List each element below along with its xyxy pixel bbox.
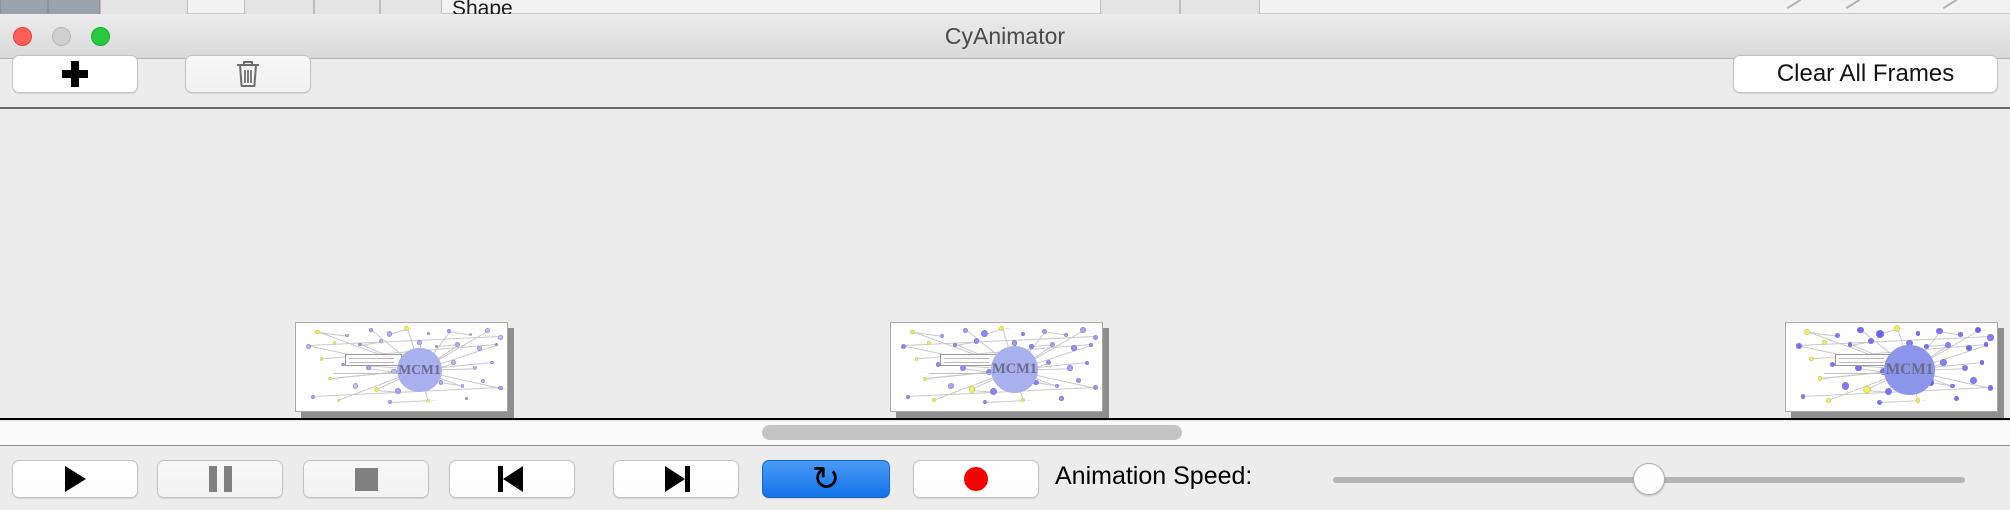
timeline-panel[interactable]: –––––––––––––––––––––––––––––––––MCM1–––… — [0, 109, 2010, 420]
graph-node — [481, 379, 485, 383]
record-icon — [964, 467, 988, 491]
graph-hub-node: MCM1 — [397, 348, 441, 392]
graph-node — [974, 338, 979, 343]
loop-button[interactable]: ↻ — [762, 460, 890, 498]
graph-node — [1958, 332, 1962, 336]
clear-all-frames-button[interactable]: Clear All Frames — [1733, 55, 1998, 93]
graph-node-label: ––– — [1026, 398, 1031, 402]
skip-back-button[interactable] — [449, 460, 575, 498]
graph-callout — [345, 354, 403, 367]
graph-edge — [449, 331, 470, 336]
graph-node — [1984, 342, 1989, 347]
graph-node — [1980, 360, 1985, 365]
graph-node — [1970, 377, 1977, 384]
graph-node — [306, 344, 311, 349]
graph-node — [498, 386, 502, 390]
graph-node — [963, 328, 968, 333]
background-arrow-icon — [1846, 0, 1861, 9]
graph-node — [1924, 344, 1929, 349]
background-fragment — [244, 0, 314, 14]
graph-node — [1046, 360, 1051, 365]
graph-node — [320, 357, 323, 360]
graph-node — [981, 330, 988, 337]
graph-node — [311, 395, 315, 399]
graph-node — [1835, 333, 1840, 338]
graph-node — [923, 377, 927, 381]
graph-node — [337, 399, 340, 402]
graph-node — [495, 343, 498, 346]
thumbnail-plate: –––––––––––––––––––––––––––––––––MCM1 — [1785, 322, 1998, 412]
graph-node — [451, 360, 456, 365]
callout-text-line — [349, 362, 393, 363]
graph-edge — [1036, 382, 1057, 387]
graph-node — [1021, 398, 1025, 402]
play-button[interactable] — [12, 460, 138, 498]
graph-node — [1064, 333, 1068, 337]
timeline-scrollbar-thumb[interactable] — [762, 425, 1182, 440]
graph-node — [1089, 343, 1093, 347]
graph-node — [447, 329, 451, 333]
graph-node-label: ––– — [1086, 328, 1091, 332]
graph-node-label: ––– — [410, 326, 415, 330]
graph-node — [1842, 382, 1850, 390]
graph-node — [1868, 338, 1874, 344]
graph-node — [910, 330, 915, 335]
graph-node — [353, 383, 358, 388]
background-fragment — [1100, 0, 1180, 14]
graph-node — [1093, 335, 1098, 340]
graph-node — [1093, 385, 1098, 390]
thumbnail-plate: –––––––––––––––––––––––––––––––––MCM1 — [295, 322, 508, 412]
graph-node — [477, 346, 482, 351]
graph-node — [1916, 398, 1921, 403]
loop-icon: ↻ — [812, 462, 841, 496]
graph-node — [388, 400, 392, 404]
network-graph: –––––––––––––––––––––––––––––––––MCM1 — [296, 323, 507, 411]
graph-callout — [940, 354, 998, 367]
background-fragment — [380, 0, 442, 14]
graph-node — [328, 377, 331, 380]
graph-node — [427, 332, 430, 335]
thumbnail-plate: –––––––––––––––––––––––––––––––––MCM1 — [890, 322, 1103, 412]
graph-node — [1801, 394, 1806, 399]
graph-node-label: ––– — [1056, 343, 1061, 347]
graph-node-label: ––– — [1900, 326, 1905, 330]
graph-node — [1012, 340, 1018, 346]
graph-node — [932, 398, 936, 402]
graph-node — [345, 334, 348, 337]
timeline-frame-thumbnail[interactable]: –––––––––––––––––––––––––––––––––MCM1 — [1785, 322, 1998, 412]
skip-forward-button[interactable] — [613, 460, 739, 498]
callout-text-line — [944, 358, 988, 359]
background-fragment — [0, 0, 48, 14]
background-arrow-icon — [1943, 0, 1958, 9]
graph-node — [1954, 396, 1959, 401]
graph-node — [1826, 398, 1830, 402]
graph-node — [366, 366, 370, 370]
graph-node — [1962, 365, 1968, 371]
graph-node — [1936, 328, 1943, 335]
graph-node — [1822, 340, 1827, 345]
window-title: CyAnimator — [0, 14, 2010, 59]
pause-icon — [209, 466, 232, 492]
background-fragment — [314, 0, 380, 14]
graph-node — [1940, 359, 1947, 366]
animation-speed-slider-thumb[interactable] — [1633, 463, 1665, 495]
graph-node — [915, 357, 919, 361]
graph-node — [940, 334, 944, 338]
graph-node — [1021, 332, 1025, 336]
plus-icon — [62, 61, 88, 87]
graph-node — [1085, 361, 1089, 365]
graph-node — [404, 326, 409, 331]
record-button[interactable] — [913, 460, 1039, 498]
graph-node — [379, 339, 384, 344]
background-arrow-icon — [1787, 0, 1802, 9]
graph-node — [1029, 344, 1033, 348]
graph-node — [1055, 384, 1059, 388]
graph-node — [439, 380, 443, 384]
graph-node — [485, 328, 490, 333]
graph-node-label: ––– — [1823, 377, 1828, 381]
graph-node — [983, 400, 987, 404]
graph-node-label: ––– — [363, 343, 368, 347]
graph-node-label: ––– — [1810, 330, 1815, 334]
timeline-frame-thumbnail[interactable]: –––––––––––––––––––––––––––––––––MCM1 — [890, 322, 1103, 412]
graph-node-label: ––– — [1098, 386, 1103, 390]
callout-text-line — [1839, 362, 1883, 363]
graph-node — [374, 387, 379, 392]
graph-node — [461, 384, 464, 387]
graph-node — [417, 340, 422, 345]
graph-node-label: ––– — [1993, 386, 1998, 390]
graph-node — [1071, 345, 1076, 350]
graph-node-label: ––– — [928, 377, 933, 381]
graph-node — [1042, 329, 1047, 334]
graph-node-label: ––– — [491, 328, 496, 332]
graph-node-label: ––– — [431, 398, 436, 402]
graph-node — [901, 344, 906, 349]
graph-node — [387, 331, 392, 336]
graph-node — [369, 328, 373, 332]
graph-node — [906, 395, 910, 399]
graph-node-label: ––– — [1005, 326, 1010, 330]
background-fragment — [48, 0, 100, 14]
graph-hub-node: MCM1 — [991, 346, 1038, 393]
graph-node — [1076, 378, 1081, 383]
graph-node — [465, 397, 468, 400]
delete-frame-button[interactable] — [185, 55, 311, 93]
callout-text-line — [1839, 358, 1883, 359]
graph-node — [1987, 334, 1993, 340]
graph-node — [358, 343, 361, 346]
graph-node — [490, 361, 493, 364]
graph-node-label: ––– — [1921, 398, 1926, 402]
cyanimator-window: Shape CyAnimator Clear All Frames ––––––… — [0, 0, 2010, 510]
graph-node-label: ––– — [915, 330, 920, 334]
graph-node — [1950, 384, 1955, 389]
network-graph: –––––––––––––––––––––––––––––––––MCM1 — [1786, 323, 1997, 411]
graph-node — [1059, 396, 1063, 400]
play-icon — [65, 466, 86, 492]
graph-node-label: ––– — [1951, 343, 1956, 347]
skip-forward-icon — [662, 466, 690, 492]
graph-edge — [390, 400, 428, 403]
graph-node — [1877, 400, 1882, 405]
callout-text-line — [349, 358, 393, 359]
graph-edge — [1880, 400, 1918, 403]
graph-node — [948, 383, 954, 389]
network-graph: –––––––––––––––––––––––––––––––––MCM1 — [891, 323, 1102, 411]
timeline-frame-thumbnail[interactable]: –––––––––––––––––––––––––––––––––MCM1 — [295, 322, 508, 412]
graph-edge — [441, 382, 462, 387]
clear-all-frames-label: Clear All Frames — [1777, 60, 1954, 88]
graph-caption-line — [1824, 373, 1892, 374]
graph-node-label: ––– — [333, 377, 338, 381]
background-window-strip: Shape — [0, 0, 2010, 14]
background-fragment — [100, 0, 188, 14]
graph-node — [990, 388, 997, 395]
graph-node — [1876, 330, 1884, 338]
callout-text-line — [944, 362, 988, 363]
pause-button[interactable] — [157, 460, 283, 498]
graph-node — [1916, 331, 1921, 336]
graph-node-label: ––– — [461, 343, 466, 347]
animation-speed-label: Animation Speed: — [1055, 462, 1252, 491]
graph-node — [927, 341, 931, 345]
graph-node-label: ––– — [320, 330, 325, 334]
graph-node — [969, 386, 976, 393]
title-bar: CyAnimator — [0, 14, 2010, 59]
graph-node — [1848, 342, 1852, 346]
graph-hub-node: MCM1 — [1884, 345, 1934, 395]
graph-node-label: ––– — [503, 386, 508, 390]
graph-edge — [985, 400, 1023, 403]
graph-node — [1818, 376, 1823, 381]
graph-caption-line — [334, 373, 402, 374]
skip-back-icon — [498, 466, 526, 492]
graph-node-label: ––– — [1853, 343, 1858, 347]
graph-node — [1067, 365, 1072, 370]
graph-edge — [1044, 331, 1065, 336]
graph-node — [953, 343, 957, 347]
stop-button[interactable] — [303, 460, 429, 498]
graph-node — [473, 366, 478, 371]
graph-node — [315, 330, 320, 335]
graph-node — [1885, 388, 1892, 395]
graph-node-label: ––– — [958, 343, 963, 347]
graph-node — [395, 388, 401, 394]
trash-icon — [235, 59, 261, 89]
background-fragment — [1180, 0, 1260, 14]
graph-node — [1796, 343, 1802, 349]
graph-node — [1809, 357, 1814, 362]
stop-icon — [355, 468, 378, 491]
graph-node — [469, 333, 472, 336]
graph-node — [498, 335, 503, 340]
graph-node — [426, 399, 430, 403]
graph-caption-line — [929, 373, 997, 374]
graph-node-label: ––– — [1981, 328, 1986, 332]
add-frame-button[interactable] — [12, 55, 138, 93]
